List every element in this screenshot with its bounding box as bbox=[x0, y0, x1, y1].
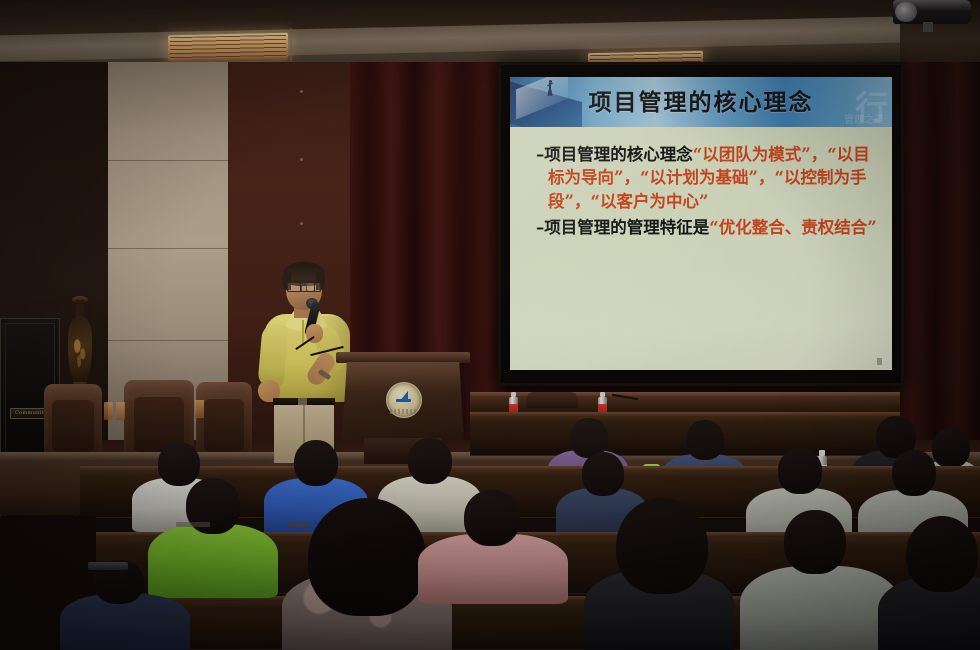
audience-head bbox=[784, 510, 846, 574]
audience-person-gray-front bbox=[740, 510, 900, 650]
stage-accent-light-2 bbox=[116, 402, 125, 420]
audience-head bbox=[686, 420, 724, 460]
ceiling-projector bbox=[893, 0, 971, 30]
desk-item-paper bbox=[176, 522, 210, 527]
slide-bullet-text: 项目管理的管理特征是 bbox=[544, 218, 709, 237]
audience-head bbox=[778, 448, 822, 494]
slide-bullet: –项目管理的核心理念“以团队为模式”，“以目标为导向”，“以计划为基础”，“以控… bbox=[536, 143, 878, 213]
audience-head bbox=[906, 516, 978, 592]
audience-person-navy-left-front bbox=[60, 560, 190, 650]
wall-panel-seam-1 bbox=[108, 160, 228, 161]
audience-head bbox=[582, 452, 624, 496]
audience-head bbox=[308, 498, 426, 616]
slide-bullet-highlight: “优化整合、责权结合” bbox=[709, 218, 876, 237]
podium-emblem-sail-icon bbox=[396, 391, 412, 404]
stage-accent-light-3 bbox=[195, 400, 204, 418]
audience-torso bbox=[740, 566, 900, 650]
wall-panel-seam-3 bbox=[108, 340, 228, 341]
podium-top-surface bbox=[336, 352, 470, 363]
ceiling-light-fixture-1 bbox=[168, 33, 288, 62]
audience-person-pink bbox=[418, 490, 568, 600]
wall-fixture-dot-1 bbox=[300, 90, 303, 93]
desk-edge-back bbox=[470, 412, 900, 417]
presenter-belt-buckle bbox=[298, 398, 307, 405]
stage-armchair-1 bbox=[44, 384, 102, 458]
presenter-left-arm bbox=[257, 323, 288, 389]
projection-screen-frame: 行 管理之道 项目管理的核心理念 –项目管理的核心理念“以团队为模式”，“以目标… bbox=[498, 62, 904, 386]
presenter-glasses-icon bbox=[287, 282, 321, 290]
audience-person-dark-right-front bbox=[878, 516, 980, 650]
slide-bullet-dash: – bbox=[536, 145, 544, 164]
decorative-vase bbox=[66, 294, 94, 394]
slide-header-band: 行 管理之道 项目管理的核心理念 bbox=[510, 77, 892, 127]
slide-bullet: –项目管理的管理特征是“优化整合、责权结合” bbox=[536, 216, 878, 239]
lecture-hall-photo: 行 管理之道 项目管理的核心理念 –项目管理的核心理念“以团队为模式”，“以目标… bbox=[0, 0, 980, 650]
audience-head bbox=[892, 450, 936, 496]
slide-page-marker bbox=[877, 358, 882, 365]
projector-mount bbox=[923, 22, 933, 32]
audience-head bbox=[294, 440, 338, 486]
wall-panel-seam-2 bbox=[108, 248, 228, 249]
podium-emblem bbox=[386, 382, 422, 418]
vase-gold-pattern bbox=[71, 330, 89, 370]
wall-fixture-dot-2 bbox=[300, 158, 303, 161]
audience-head bbox=[616, 498, 708, 594]
desk-item-laptop bbox=[88, 562, 128, 570]
audience-person-dark-front bbox=[584, 498, 734, 650]
desk-item-glasses bbox=[288, 522, 310, 527]
stage-accent-light-1 bbox=[104, 402, 113, 420]
projection-screen: 行 管理之道 项目管理的核心理念 –项目管理的核心理念“以团队为模式”，“以目标… bbox=[510, 77, 892, 370]
projector-lens-icon bbox=[895, 2, 917, 22]
podium-emblem-text-ring bbox=[390, 409, 418, 414]
slide-body-text: –项目管理的核心理念“以团队为模式”，“以目标为导向”，“以计划为基础”，“以控… bbox=[536, 143, 878, 243]
audience-head bbox=[408, 438, 452, 484]
slide-bullet-dash: – bbox=[536, 218, 544, 237]
slide-title: 项目管理的核心理念 bbox=[510, 83, 892, 117]
front-table-chair bbox=[526, 392, 578, 408]
audience-head bbox=[464, 490, 520, 546]
slide-bullet-text: 项目管理的核心理念 bbox=[544, 145, 693, 164]
wall-fixture-dot-3 bbox=[300, 222, 303, 225]
